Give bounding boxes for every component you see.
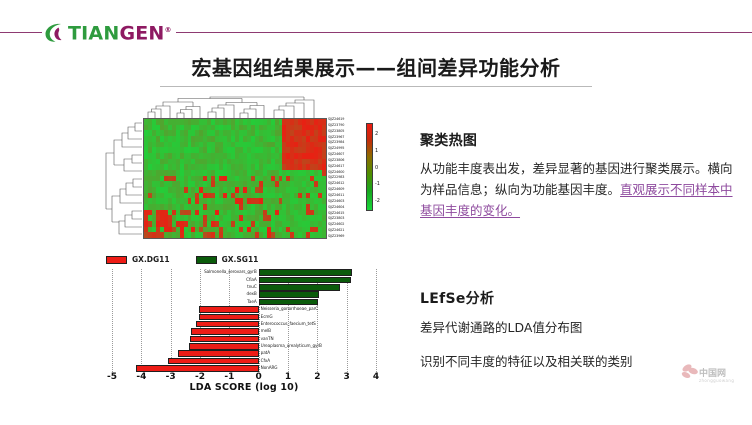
heatmap-cell [322,232,326,238]
lefse-bar-row[interactable]: Neisseria_gonorrhoeae_parC [199,306,258,313]
lefse-bar [259,269,352,276]
lefse-bar-row[interactable]: tnuC [259,284,341,291]
lefse-legend-label: GX.DG11 [132,255,170,264]
lefse-gridline [112,269,113,372]
heatmap-row-label: SJJZ23967 [328,136,364,140]
heatmap-row-label: SJJZ24615 [328,212,364,216]
lefse-x-axis: -5-4-3-2-101234 [112,372,376,382]
lefse-bar [259,291,319,298]
lefse-bar [178,350,259,357]
heatmap-color-ticks: 210-1-2 [375,132,391,204]
heatmap-description-block: 聚类热图 从功能丰度表出发，差异显著的基因进行聚类展示。横向为样品信息；纵向为功… [420,130,738,222]
watermark: 中国网 zhongguowang [678,362,746,392]
lefse-legend-swatch [106,256,127,264]
heatmap-row-label: SJJZ24600 [328,171,364,175]
heatmap-row-label: SJJZ24621 [328,229,364,233]
logo-registered-mark: ® [165,26,172,34]
heatmap-row-label: SJJZ23969 [328,235,364,239]
lefse-gridline [171,269,172,372]
lefse-bar-label: EcmG [261,313,273,320]
lefse-legend-label: GX.SG11 [222,255,259,264]
lefse-x-tick: 4 [373,372,379,382]
heatmap-row-label: SJJZ22983 [328,176,364,180]
lefse-bar [191,328,258,335]
header-rule-left [0,32,42,33]
lefse-x-tick: 1 [285,372,291,382]
lefse-bar-label: TaeA [247,298,256,305]
heatmap-row-label: SJJZ24611 [328,194,364,198]
lefse-bar-label: Salmonella_serovars_gyrB [204,268,257,275]
heatmap-row-label: SJJZ24603 [328,200,364,204]
lefse-bar-label: Neisseria_gonorrhoeae_parC [261,305,318,312]
page-title: 宏基因组结果展示——组间差异功能分析 [0,52,752,81]
heatmap-row-label: SJJZ24609 [328,188,364,192]
lefse-x-tick: -4 [136,372,146,382]
heatmap-row-label: SJJZ23803 [328,217,364,221]
lefse-bar-label: dexB [247,290,257,297]
lefse-gridline [376,269,377,372]
lefse-bar-row[interactable]: vanTN [190,336,259,343]
heatmap-row-label: SJJZ24604 [328,206,364,210]
watermark-subtext: zhongguowang [699,378,734,383]
heatmap-color-bar [366,123,373,211]
heatmap-description-heading: 聚类热图 [420,130,738,150]
lefse-description-line1: 差异代谢通路的LDA值分布图 [420,317,738,338]
lefse-legend-item[interactable]: GX.DG11 [106,255,170,264]
lefse-bar-label: tnuC [247,283,256,290]
heatmap-row-label: SJJZ24602 [328,223,364,227]
lefse-bar-label: CfxA [261,357,270,364]
lefse-x-tick: 2 [314,372,320,382]
heatmap-row-label: SJJZ24617 [328,165,364,169]
cluster-heatmap-figure: SJJZ24619SJJZ23790SJJZ23805SJJZ23967SJJZ… [98,96,368,246]
lefse-x-tick: -1 [224,372,234,382]
lefse-bar [259,284,341,291]
heatmap-row-label: SJJZ23805 [328,130,364,134]
slide-header: TIANGEN® [0,0,752,52]
lefse-x-tick: -2 [195,372,205,382]
lefse-bar-row[interactable]: dexB [259,291,319,298]
lefse-gridline [141,269,142,372]
lefse-x-tick: -5 [107,372,117,382]
lefse-bar [136,365,259,372]
heatmap-row-label: SJJZ24607 [328,153,364,157]
heatmap-row-label: SJJZ24619 [328,118,364,122]
heatmap-legend-tick: 1 [375,149,391,154]
lefse-description-block: LEfSe分析 差异代谢通路的LDA值分布图 识别不同丰度的特征以及相关联的类别 [420,288,738,372]
lefse-x-axis-label: LDA SCORE (log 10) [112,382,376,393]
lefse-bar-label: patA [261,349,270,356]
title-underline [160,86,592,87]
lefse-bar-row[interactable]: CfiaA [259,277,351,284]
lefse-bar-label: CfiaA [246,276,257,283]
lefse-legend-swatch [196,256,217,264]
lefse-description-heading: LEfSe分析 [420,288,738,308]
lefse-bar-label: NonARG [261,364,278,371]
crescent-leaf-logo-icon [42,21,65,44]
heatmap-row-label: SJJZ24612 [328,182,364,186]
lefse-bar [196,321,258,328]
lefse-bar-chart-figure: GX.DG11GX.SG11 Salmonella_serovars_gyrBC… [98,250,398,396]
heatmap-row-dendrogram [102,119,142,238]
logo-word-gen: GEN [119,22,164,44]
heatmap-cell-grid [144,119,326,238]
lefse-x-tick: 3 [344,372,350,382]
lefse-bar-row[interactable]: NonARG [136,365,259,372]
lefse-bar [199,314,259,321]
lefse-legend: GX.DG11GX.SG11 [106,253,306,266]
lefse-bar-row[interactable]: Ureaplasma_urealyticum_gyrB [189,343,259,350]
lefse-bar-label: Enterococcus_faecium_tetS [261,320,316,327]
lefse-bar [259,277,351,284]
lefse-bar-row[interactable]: Salmonella_serovars_gyrB [259,269,352,276]
heatmap-row-label: SJJZ23984 [328,141,364,145]
heatmap-row-labels: SJJZ24619SJJZ23790SJJZ23805SJJZ23967SJJZ… [328,118,364,239]
lefse-bar-label: Ureaplasma_urealyticum_gyrB [261,342,322,349]
lefse-bar-row[interactable]: CfxA [168,358,259,365]
heatmap-description-body: 从功能丰度表出发，差异显著的基因进行聚类展示。横向为样品信息；纵向为功能基因丰度… [420,159,738,222]
lefse-bar-row[interactable]: EcmG [199,314,259,321]
lefse-bar-row[interactable]: patA [178,350,259,357]
lefse-bar-row[interactable]: melB [191,328,258,335]
heatmap-legend-tick: 2 [375,132,391,137]
lefse-bar-row[interactable]: Enterococcus_faecium_tetS [196,321,258,328]
lefse-plot-area: Salmonella_serovars_gyrBCfiaAtnuCdexBTae… [112,269,376,372]
heatmap-color-legend: 210-1-2 [366,123,392,235]
header-rule-right [176,32,752,33]
lefse-x-tick: -3 [166,372,176,382]
lefse-bar [190,336,259,343]
heatmap-row-label: SJJZ23806 [328,159,364,163]
heatmap-legend-tick: 0 [375,166,391,171]
lefse-bar [189,343,259,350]
heatmap-column-dendrogram [144,96,326,118]
tiangen-logo: TIANGEN® [42,19,172,45]
lefse-x-tick: 0 [256,372,262,382]
heatmap-row-label: SJJZ23790 [328,124,364,128]
heatmap-row-label: SJJZ24995 [328,147,364,151]
lefse-bar-label: melB [261,327,271,334]
heatmap-legend-tick: -1 [375,182,391,187]
lefse-legend-item[interactable]: GX.SG11 [196,255,259,264]
heatmap-legend-tick: -2 [375,199,391,204]
lefse-gridline [347,269,348,372]
lefse-bar [168,358,259,365]
lefse-bar-label: vanTN [261,335,274,342]
logo-wordmark: TIANGEN® [68,19,172,45]
logo-word-tian: TIAN [68,22,119,44]
lefse-bar [199,306,258,313]
